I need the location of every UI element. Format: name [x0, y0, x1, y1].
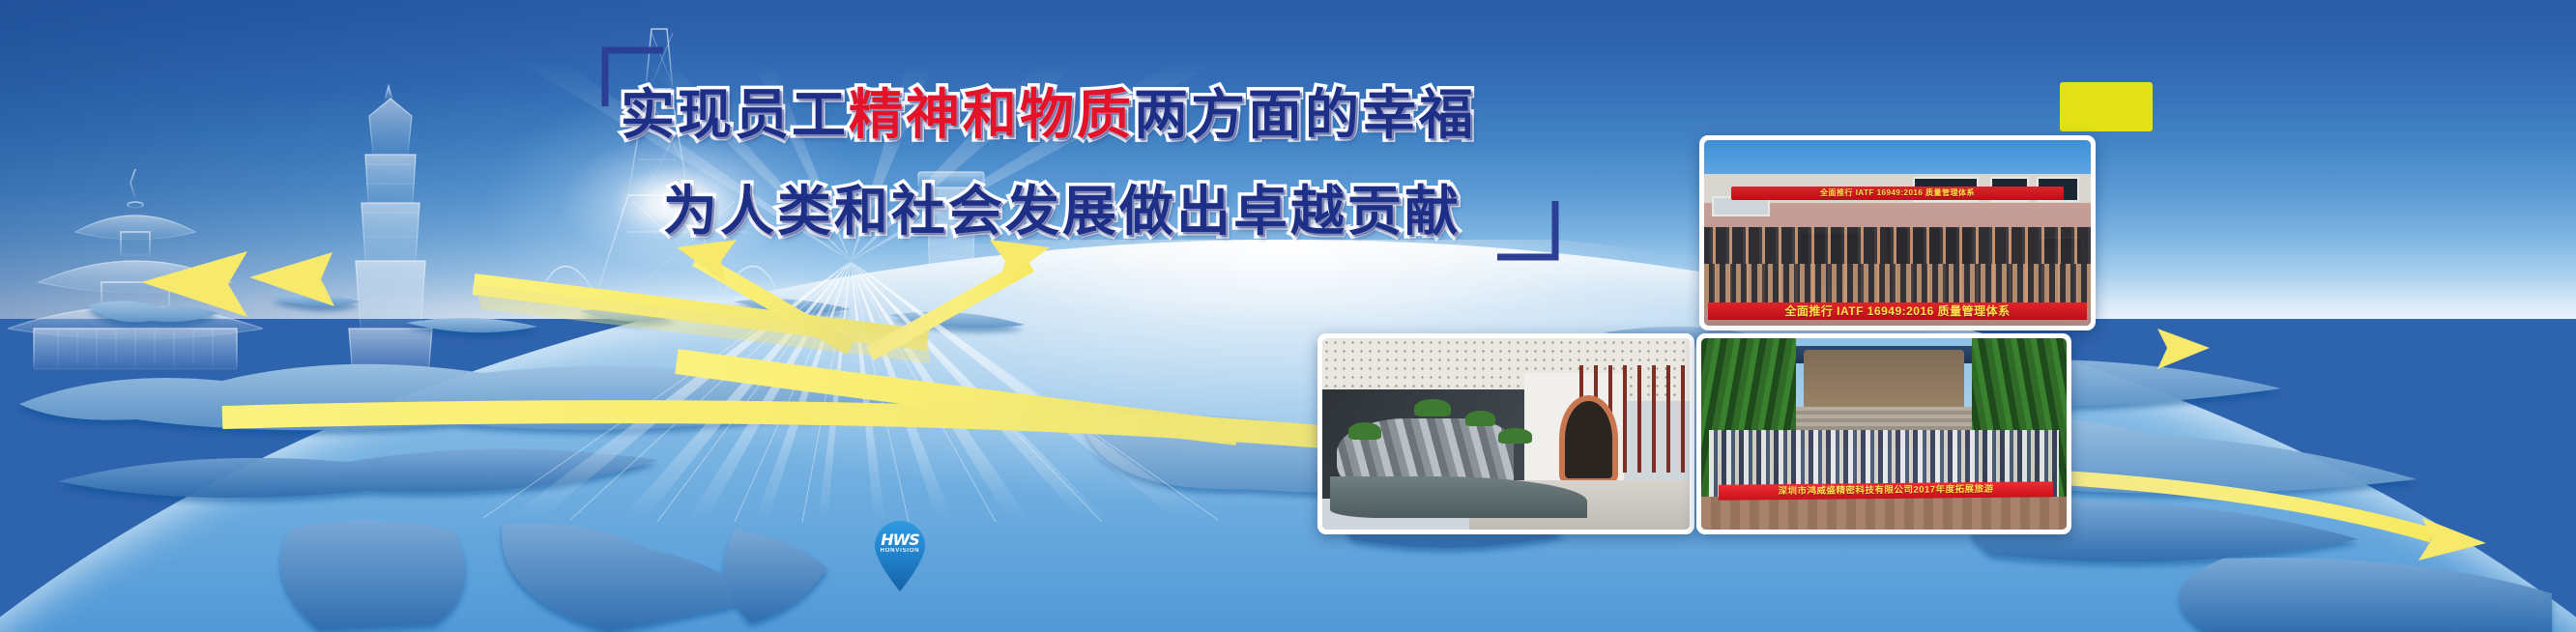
slogan-line2-text: 为人类和社会发展做出卓越贡献: [663, 181, 1462, 244]
iatf-certification-group-photo[interactable]: 全面推行 IATF 16949:2016 质量管理体系 全面推行 IATF 16…: [1699, 135, 2096, 330]
slogan-line1-part1: 实现员工: [621, 84, 849, 147]
bracket-bottom-right-icon: [1493, 197, 1561, 265]
map-pin-icon: [870, 519, 930, 592]
globe-container: [0, 240, 2576, 632]
slogan-line1-part2: 两方面的幸福: [1134, 84, 1476, 147]
slogan-block: 实现员工精神和物质两方面的幸福 为人类和社会发展做出卓越贡献: [599, 43, 1556, 265]
slogan-line1-highlight: 精神和物质: [849, 84, 1134, 147]
office-courtyard-photo[interactable]: [1317, 333, 1694, 534]
yellow-accent-block: [2060, 82, 2153, 131]
slogan-line-1: 实现员工精神和物质两方面的幸福: [621, 89, 1476, 143]
team-outing-group-photo[interactable]: 深圳市鸿威盛精密科技有限公司2017年度拓展旅游: [1696, 333, 2071, 534]
slogan-line-2: 为人类和社会发展做出卓越贡献: [663, 186, 1462, 240]
world-map-continents: [0, 240, 2576, 632]
map-pin-logo[interactable]: HWS HONVISION: [870, 519, 930, 592]
iatf-banner-lower: 全面推行 IATF 16949:2016 质量管理体系: [1708, 302, 2087, 320]
company-culture-banner: 实现员工精神和物质两方面的幸福 为人类和社会发展做出卓越贡献 全面推行 IATF…: [0, 0, 2576, 632]
iatf-banner-upper: 全面推行 IATF 16949:2016 质量管理体系: [1731, 187, 2064, 200]
